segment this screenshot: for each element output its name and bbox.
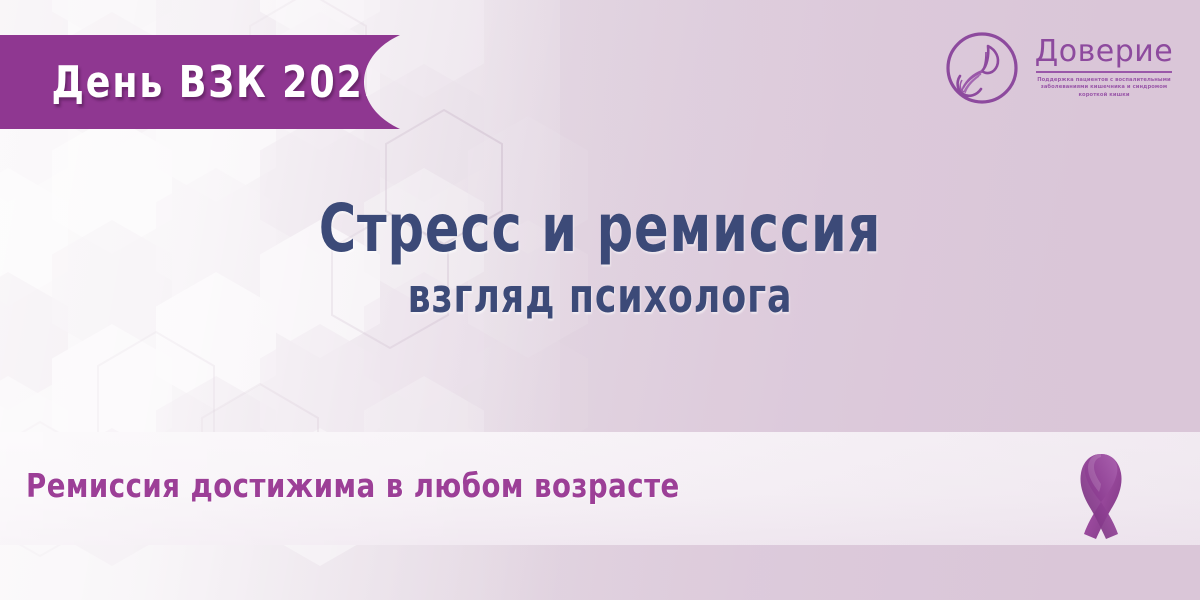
- logo-tagline: Поддержка пациентов с воспалительными за…: [1034, 77, 1174, 98]
- logo-text-block: Доверие Поддержка пациентов с воспалител…: [1034, 37, 1174, 98]
- poster-canvas: День ВЗК 2023 Доверие Поддержка пациенто…: [0, 0, 1200, 600]
- logo-name: Доверие: [1035, 37, 1173, 67]
- hexagon-outline: [330, 212, 450, 350]
- event-ribbon-label: День ВЗК 2023: [0, 57, 391, 108]
- logo-divider: [1036, 71, 1172, 73]
- purple-awareness-ribbon-icon: [1066, 440, 1136, 542]
- hand-with-leaf-circle-icon: [942, 28, 1022, 108]
- footer-tagline: Ремиссия достижима в любом возрасте: [26, 466, 680, 505]
- organization-logo: Доверие Поддержка пациентов с воспалител…: [942, 28, 1174, 108]
- event-ribbon-banner: День ВЗК 2023: [0, 35, 400, 129]
